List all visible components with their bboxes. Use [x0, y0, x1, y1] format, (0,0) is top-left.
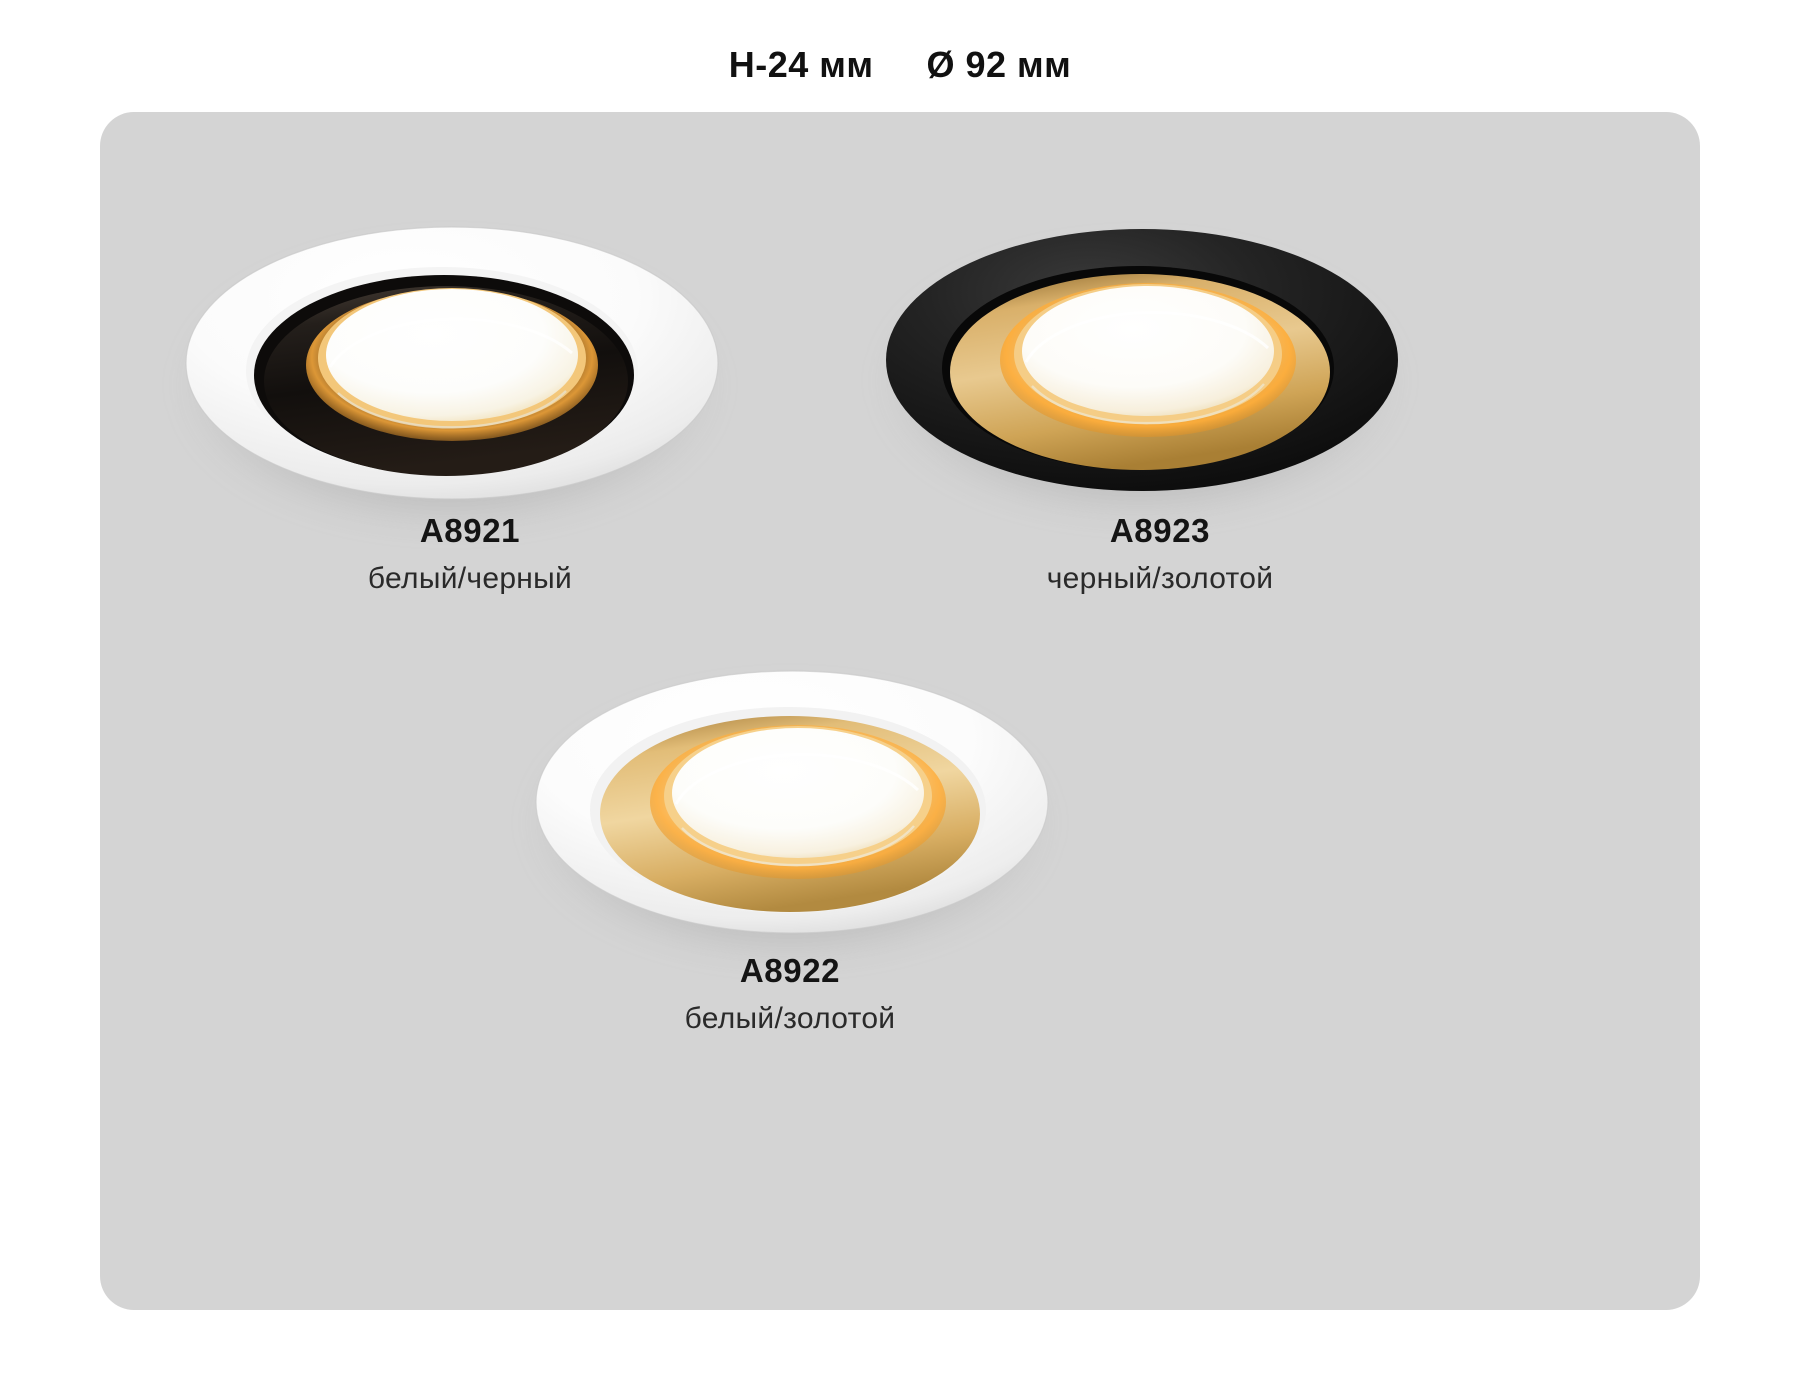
dimensions-header: H-24 мм Ø 92 мм — [0, 44, 1800, 86]
downlight-illustration-black-gold — [880, 218, 1400, 496]
downlight-illustration-white-black — [180, 215, 720, 505]
product-sku-a8921: A8921 — [240, 512, 700, 550]
downlight-illustration-white-gold — [530, 660, 1050, 938]
product-colors-a8923: черный/золотой — [930, 562, 1390, 597]
product-colors-a8922: белый/золотой — [560, 1002, 1020, 1037]
product-image-a8922 — [530, 660, 1050, 938]
product-sku-a8922: A8922 — [560, 952, 1020, 990]
product-caption-a8922: A8922 белый/золотой — [560, 952, 1020, 1036]
product-catalog-image: H-24 мм Ø 92 мм — [0, 0, 1800, 1400]
height-dimension-label: H-24 мм — [729, 44, 874, 86]
product-image-a8923 — [880, 218, 1400, 496]
product-caption-a8923: A8923 черный/золотой — [930, 512, 1390, 596]
product-sku-a8923: A8923 — [930, 512, 1390, 550]
product-colors-a8921: белый/черный — [240, 562, 700, 597]
product-caption-a8921: A8921 белый/черный — [240, 512, 700, 596]
product-image-a8921 — [180, 215, 720, 505]
diameter-dimension-label: Ø 92 мм — [926, 44, 1071, 86]
product-panel: A8921 белый/черный — [100, 112, 1700, 1310]
